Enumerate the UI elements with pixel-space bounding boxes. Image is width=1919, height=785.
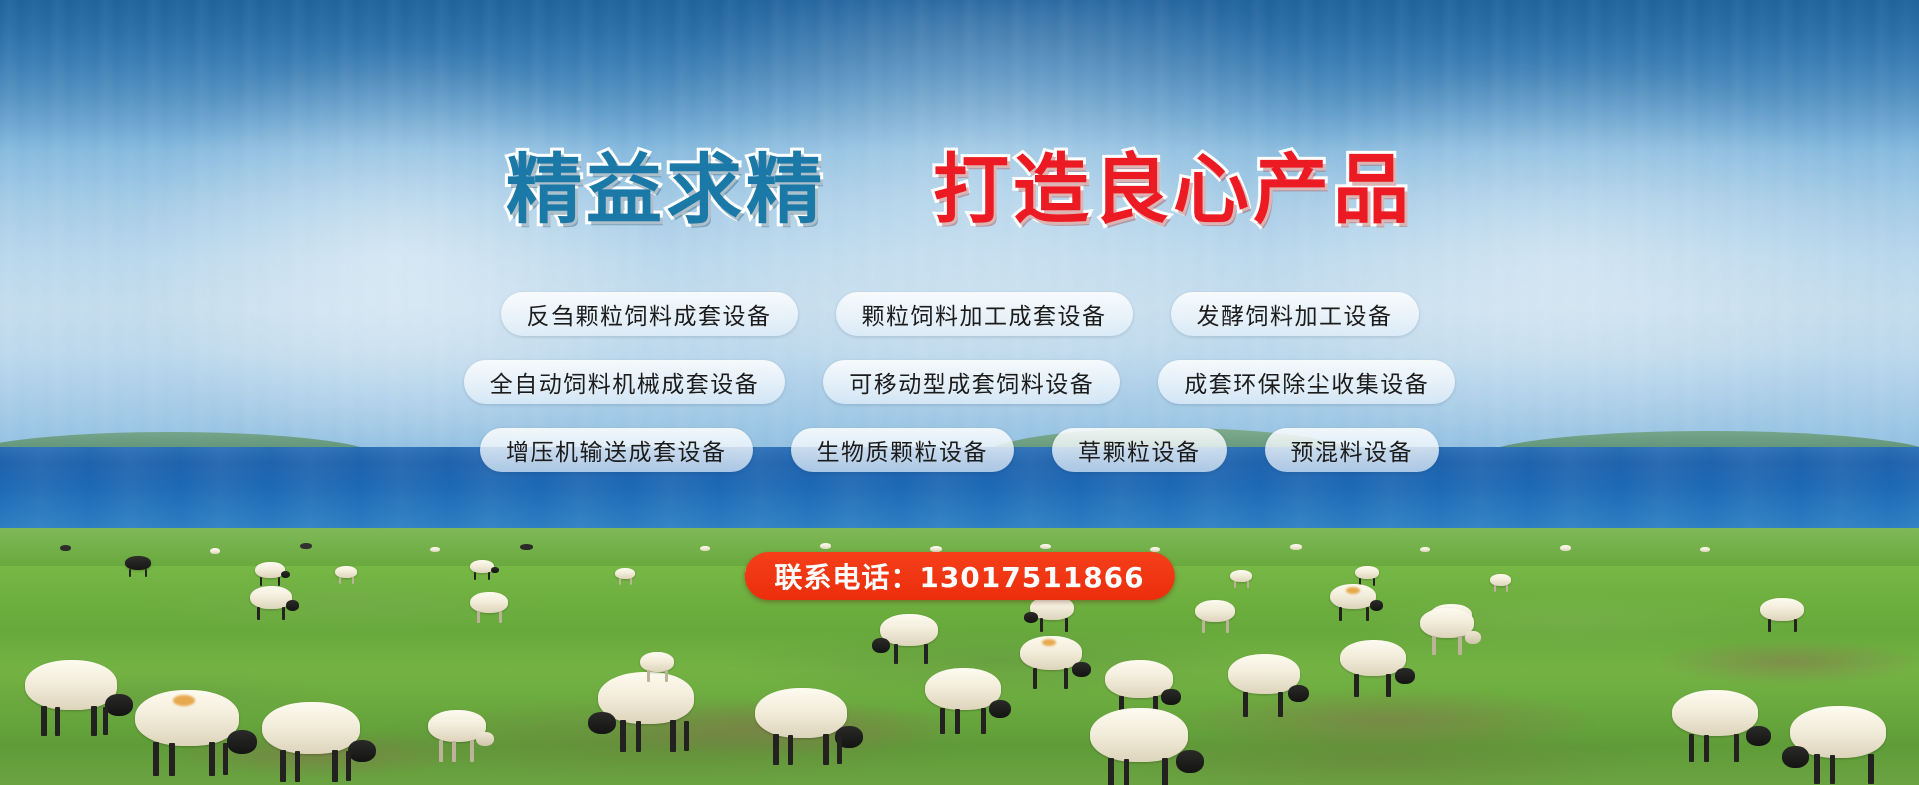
product-tag-grass-pellet-equipment[interactable]: 草颗粒设备 <box>1052 428 1227 472</box>
promo-banner: 精益求精 打造良心产品 反刍颗粒饲料成套设备 颗粒饲料加工成套设备 发酵饲料加工… <box>0 0 1919 785</box>
headline-red-text: 打造良心产品 <box>933 145 1413 234</box>
product-tag-booster-conveying-complete-equipment[interactable]: 增压机输送成套设备 <box>480 428 753 472</box>
contact-phone-badge[interactable]: 联系电话：13017511866 <box>744 552 1174 600</box>
dirt-patch <box>1660 640 1919 684</box>
product-tag-row-2: 全自动饲料机械成套设备 可移动型成套饲料设备 成套环保除尘收集设备 <box>0 360 1919 404</box>
product-tag-row-3: 增压机输送成套设备 生物质颗粒设备 草颗粒设备 预混料设备 <box>0 428 1919 472</box>
headline-blue-text: 精益求精 <box>506 145 826 234</box>
product-tag-list: 反刍颗粒饲料成套设备 颗粒饲料加工成套设备 发酵饲料加工设备 全自动饲料机械成套… <box>0 292 1919 496</box>
product-tag-premix-feed-equipment[interactable]: 预混料设备 <box>1265 428 1440 472</box>
product-tag-complete-environmental-dust-collection-equipment[interactable]: 成套环保除尘收集设备 <box>1158 360 1455 404</box>
product-tag-ruminant-pellet-feed-complete-equipment[interactable]: 反刍颗粒饲料成套设备 <box>501 292 798 336</box>
product-tag-pellet-feed-processing-complete-equipment[interactable]: 颗粒饲料加工成套设备 <box>836 292 1133 336</box>
product-tag-fully-automatic-feed-machinery-complete-equipment[interactable]: 全自动饲料机械成套设备 <box>464 360 786 404</box>
banner-headline: 精益求精 打造良心产品 <box>0 152 1919 228</box>
product-tag-biomass-pellet-equipment[interactable]: 生物质颗粒设备 <box>791 428 1015 472</box>
product-tag-mobile-complete-feed-equipment[interactable]: 可移动型成套饲料设备 <box>823 360 1120 404</box>
product-tag-fermented-feed-processing-equipment[interactable]: 发酵饲料加工设备 <box>1171 292 1419 336</box>
product-tag-row-1: 反刍颗粒饲料成套设备 颗粒饲料加工成套设备 发酵饲料加工设备 <box>0 292 1919 336</box>
